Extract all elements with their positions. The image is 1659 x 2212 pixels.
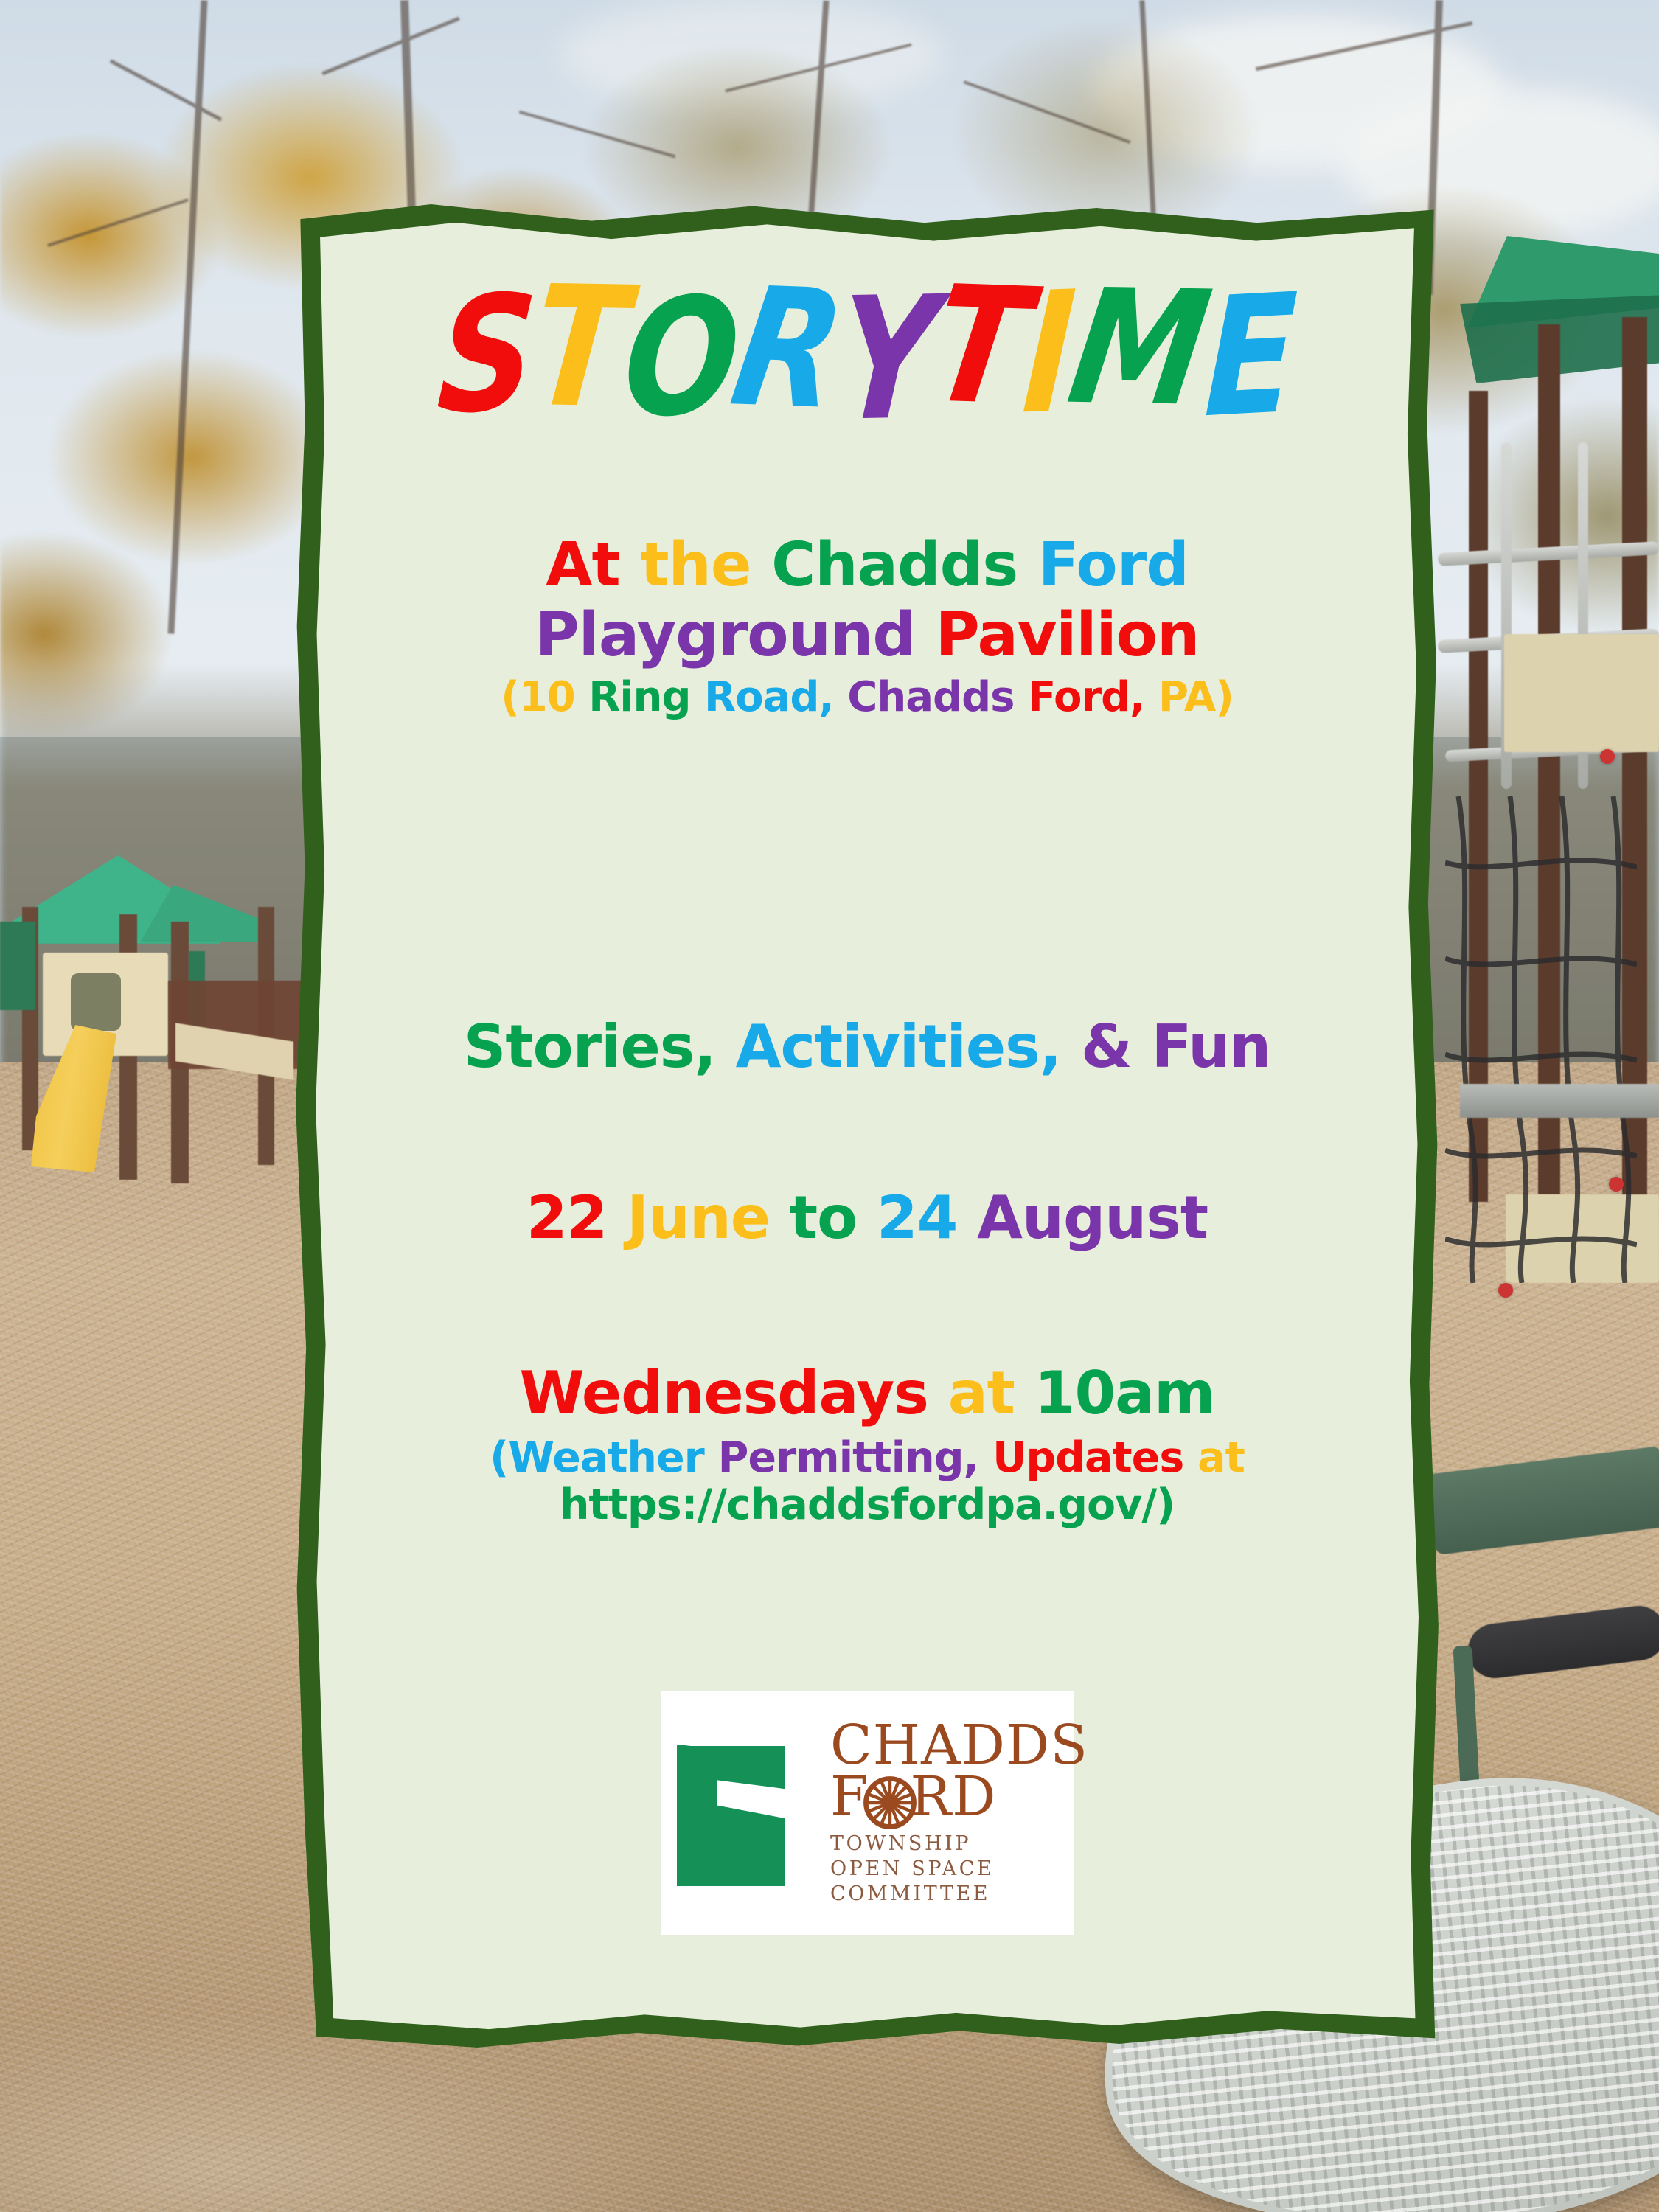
date-word: 24 <box>877 1183 957 1252</box>
note-word: Updates <box>992 1433 1183 1482</box>
schedule-line: Wednesdays at 10am <box>341 1363 1394 1425</box>
chadds-ford-township-logo: CHADDS FRD TOWNSHIP OPEN SPACE COMMITTEE <box>661 1691 1074 1935</box>
date-word: June <box>627 1183 770 1252</box>
poster-title: STORYTIME <box>311 283 1423 417</box>
logo-subtitle: TOWNSHIP OPEN SPACE COMMITTEE <box>830 1832 1088 1907</box>
schedule-block: Wednesdays at 10am (Weather Permitting, … <box>341 1363 1394 1528</box>
venue-line-1: At the Chadds Ford <box>341 534 1394 598</box>
note-line-2: https://chaddsfordpa.gov/) <box>341 1483 1394 1527</box>
venue-address: (10 Ring Road, Chadds Ford, PA) <box>341 675 1394 719</box>
logo-line-ford: FRD <box>830 1771 1088 1823</box>
cannon-wheel-icon <box>863 1775 917 1830</box>
logo-wordmark: CHADDS FRD TOWNSHIP OPEN SPACE COMMITTEE <box>830 1719 1088 1907</box>
note-word: at <box>1197 1433 1245 1482</box>
address-word: Road, <box>704 673 834 721</box>
date-word: to <box>790 1183 857 1252</box>
venue-line-2: Playground Pavilion <box>341 604 1394 668</box>
activity-word: Activities, <box>736 1012 1062 1081</box>
logo-sub-committee: COMMITTEE <box>830 1882 1088 1907</box>
venue-word: Ford <box>1038 530 1189 600</box>
schedule-word: Wednesdays <box>520 1359 928 1427</box>
website-url[interactable]: https://chaddsfordpa.gov/) <box>560 1481 1175 1529</box>
venue-word: At <box>546 530 620 600</box>
address-word: Chadds <box>847 673 1014 721</box>
logo-sub-open-space: OPEN SPACE <box>830 1857 1088 1882</box>
title-letter: E <box>1203 271 1298 440</box>
logo-line-chadds: CHADDS <box>830 1719 1088 1771</box>
title-letter: O <box>619 275 742 440</box>
venue-word: Pavilion <box>936 600 1200 670</box>
title-letter: T <box>526 263 633 431</box>
address-word: PA) <box>1158 673 1234 721</box>
logo-sub-township: TOWNSHIP <box>830 1832 1088 1857</box>
storytime-poster: STORYTIME At the Chadds Ford Playground … <box>293 201 1441 2051</box>
note-word: Permitting, <box>718 1433 979 1482</box>
schedule-word: 10am <box>1034 1359 1215 1427</box>
logo-ford-post: RD <box>910 1765 996 1829</box>
climbing-net <box>1445 796 1637 1283</box>
schedule-word: at <box>948 1359 1015 1427</box>
note-word: (Weather <box>490 1433 704 1482</box>
venue-word: the <box>640 530 751 600</box>
venue-word: Chadds <box>771 530 1018 600</box>
title-letter: R <box>723 265 852 432</box>
activities-block: Stories, Activities, & Fun <box>341 1016 1394 1079</box>
dates-block: 22 June to 24 August <box>341 1187 1394 1250</box>
address-word: Ford, <box>1028 673 1144 721</box>
activities-line: Stories, Activities, & Fun <box>341 1016 1394 1079</box>
activity-word: Fun <box>1152 1012 1271 1081</box>
activity-word: & <box>1081 1012 1132 1081</box>
poster-screenshot: STORYTIME At the Chadds Ford Playground … <box>0 0 1659 2212</box>
address-word: Ring <box>588 673 690 721</box>
date-word: 22 <box>526 1183 607 1252</box>
dates-line: 22 June to 24 August <box>341 1187 1394 1250</box>
title-letter: S <box>434 273 540 437</box>
activity-word: Stories, <box>464 1012 716 1081</box>
venue-block: At the Chadds Ford Playground Pavilion (… <box>341 534 1394 719</box>
date-word: August <box>977 1183 1208 1252</box>
note-line-1: (Weather Permitting, Updates at <box>341 1436 1394 1480</box>
poster-body: STORYTIME At the Chadds Ford Playground … <box>311 215 1423 2037</box>
venue-word: Playground <box>535 600 915 670</box>
address-word: (10 <box>501 673 575 721</box>
logo-mark-icon <box>674 1734 821 1893</box>
title-letter: M <box>1061 268 1217 428</box>
